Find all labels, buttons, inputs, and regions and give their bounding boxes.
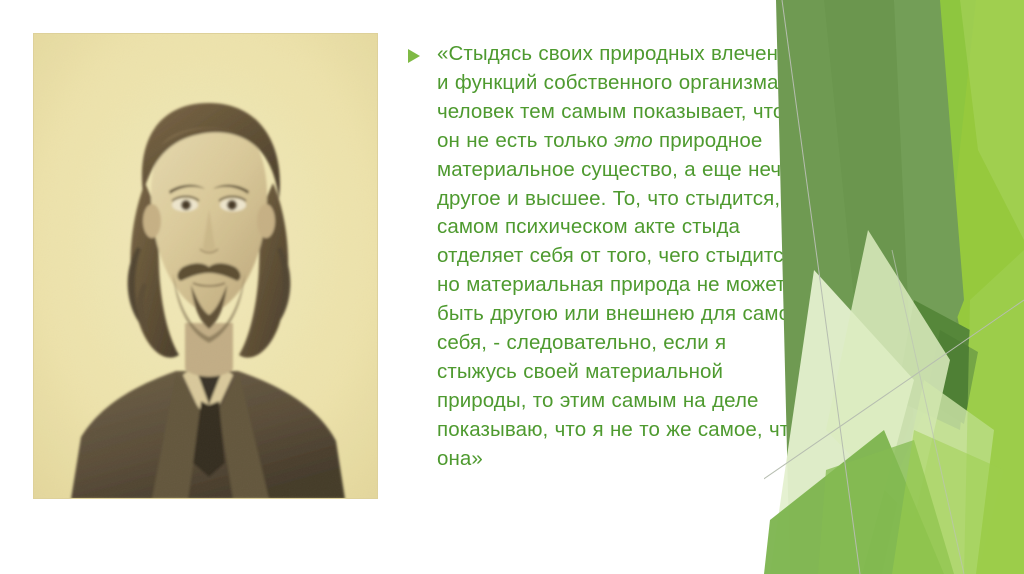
facet-shape-dark-3: [894, 0, 964, 430]
portrait-photo-image: [33, 33, 378, 499]
quote-text-block: «Стыдясь своих природных влечений и функ…: [405, 40, 805, 474]
bullet-list-item: «Стыдясь своих природных влечений и функ…: [405, 40, 805, 474]
presentation-slide: «Стыдясь своих природных влечений и функ…: [0, 0, 1024, 574]
facet-shape-bright-2: [914, 0, 1024, 574]
facet-shape-deep-2: [926, 330, 978, 424]
facet-shape-highlight: [960, 0, 1024, 240]
facet-shape-mid-2: [818, 440, 954, 574]
facet-shape-bright: [860, 0, 1024, 574]
quote-emphasis: это: [614, 129, 653, 152]
facet-shape-deep: [896, 300, 970, 430]
quote-part-2: природное материальное существо, а еще н…: [437, 129, 802, 470]
quote-paragraph: «Стыдясь своих природных влечений и функ…: [437, 40, 805, 474]
facet-shape-pale-3: [882, 380, 994, 574]
triangle-right-icon: [408, 49, 420, 63]
facet-shape-highlight-2: [964, 250, 1024, 574]
facet-shape-highlight-3: [892, 430, 1004, 574]
hairline-3: [892, 250, 964, 574]
facet-shape-dark-2: [824, 0, 950, 520]
facet-shape-pale-2: [826, 230, 950, 520]
portrait-photo: [33, 33, 378, 499]
